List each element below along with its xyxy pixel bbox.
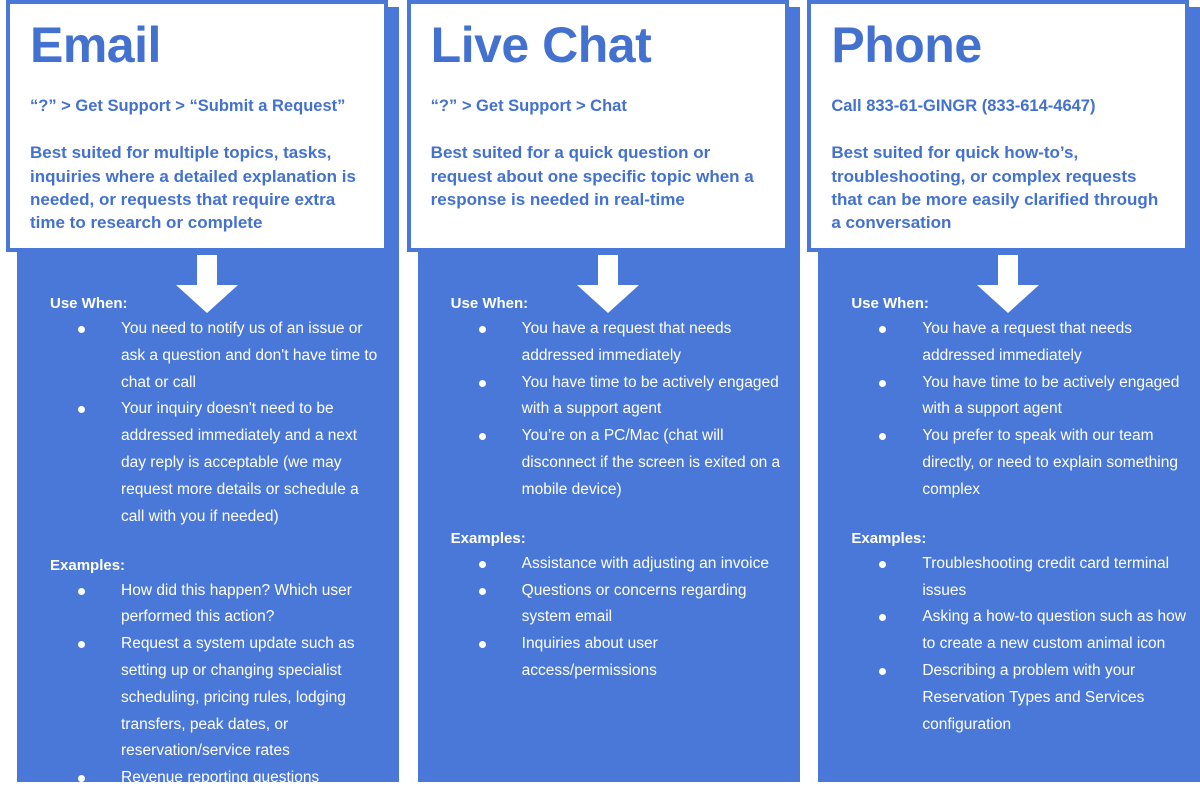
channel-email-title: Email bbox=[30, 20, 364, 70]
channel-live-chat-body: Use When: You have a request that needs … bbox=[418, 259, 800, 685]
arrow-down-icon bbox=[977, 255, 1039, 313]
list-item-text: Inquiries about user access/permissions bbox=[522, 635, 658, 679]
list-item: How did this happen? Which user performe… bbox=[31, 578, 385, 632]
arrow-down-icon bbox=[577, 255, 639, 313]
channel-email-path: “?” > Get Support > “Submit a Request” bbox=[30, 96, 364, 117]
list-item-text: You have a request that needs addressed … bbox=[522, 320, 732, 364]
channel-phone-use-when-list: You have a request that needs addressed … bbox=[832, 316, 1186, 504]
channel-phone-path: Call 833-61-GINGR (833-614-4647) bbox=[831, 96, 1165, 117]
bullet-dot-icon bbox=[879, 380, 886, 387]
list-item: You have time to be actively engaged wit… bbox=[432, 370, 786, 424]
channel-live-chat-description: Best suited for a quick question or requ… bbox=[431, 141, 765, 211]
channel-phone-examples-label: Examples: bbox=[851, 528, 1186, 549]
list-item: You have a request that needs addressed … bbox=[432, 316, 786, 370]
bullet-dot-icon bbox=[479, 326, 486, 333]
list-item: You’re on a PC/Mac (chat will disconnect… bbox=[432, 423, 786, 503]
list-item-text: Assistance with adjusting an invoice bbox=[522, 555, 769, 572]
bullet-dot-icon bbox=[879, 326, 886, 333]
list-item-text: Describing a problem with your Reservati… bbox=[922, 662, 1144, 733]
channel-email-body: Use When: You need to notify us of an is… bbox=[17, 259, 399, 792]
list-item: You have a request that needs addressed … bbox=[832, 316, 1186, 370]
arrow-down-icon bbox=[176, 255, 238, 313]
list-item-text: You’re on a PC/Mac (chat will disconnect… bbox=[522, 427, 780, 498]
list-item-text: How did this happen? Which user performe… bbox=[121, 582, 352, 626]
bullet-dot-icon bbox=[479, 380, 486, 387]
channel-email-card: Email “?” > Get Support > “Submit a Requ… bbox=[6, 0, 388, 252]
bullet-dot-icon bbox=[479, 588, 486, 595]
bullet-dot-icon bbox=[879, 433, 886, 440]
bullet-dot-icon bbox=[879, 668, 886, 675]
channel-live-chat-title: Live Chat bbox=[431, 20, 765, 70]
channel-phone-card: Phone Call 833-61-GINGR (833-614-4647) B… bbox=[807, 0, 1189, 252]
list-item-text: You have time to be actively engaged wit… bbox=[922, 374, 1179, 418]
channel-email-examples-list: How did this happen? Which user performe… bbox=[31, 578, 385, 792]
list-item-text: Asking a how-to question such as how to … bbox=[922, 608, 1186, 652]
channel-phone: Phone Call 833-61-GINGR (833-614-4647) B… bbox=[818, 7, 1200, 782]
list-item-text: You need to notify us of an issue or ask… bbox=[121, 320, 377, 391]
bullet-dot-icon bbox=[78, 326, 85, 333]
list-item-text: You have time to be actively engaged wit… bbox=[522, 374, 779, 418]
channel-live-chat-examples-label: Examples: bbox=[451, 528, 786, 549]
list-item-text: You have a request that needs addressed … bbox=[922, 320, 1132, 364]
list-item-text: Revenue reporting questions bbox=[121, 769, 319, 786]
channel-live-chat: Live Chat “?” > Get Support > Chat Best … bbox=[418, 7, 800, 782]
bullet-dot-icon bbox=[479, 561, 486, 568]
list-item: You need to notify us of an issue or ask… bbox=[31, 316, 385, 396]
list-item: Your inquiry doesn't need to be addresse… bbox=[31, 396, 385, 530]
bullet-dot-icon bbox=[78, 406, 85, 413]
support-channels-board: Email “?” > Get Support > “Submit a Requ… bbox=[0, 0, 1200, 791]
list-item-text: Request a system update such as setting … bbox=[121, 635, 355, 759]
channel-email-use-when-list: You need to notify us of an issue or ask… bbox=[31, 316, 385, 531]
list-item-text: Your inquiry doesn't need to be addresse… bbox=[121, 400, 359, 524]
bullet-dot-icon bbox=[479, 433, 486, 440]
list-item-text: Troubleshooting credit card terminal iss… bbox=[922, 555, 1169, 599]
channel-phone-examples-list: Troubleshooting credit card terminal iss… bbox=[832, 551, 1186, 739]
bullet-dot-icon bbox=[879, 561, 886, 568]
list-item-text: You prefer to speak with our team direct… bbox=[922, 427, 1178, 498]
bullet-dot-icon bbox=[879, 614, 886, 621]
list-item: Questions or concerns regarding system e… bbox=[432, 578, 786, 632]
bullet-dot-icon bbox=[78, 588, 85, 595]
list-item-text: Questions or concerns regarding system e… bbox=[522, 582, 747, 626]
bullet-dot-icon bbox=[479, 641, 486, 648]
channel-phone-description: Best suited for quick how-to’s, troubles… bbox=[831, 141, 1165, 234]
channel-email-examples-label: Examples: bbox=[50, 555, 385, 576]
list-item: Asking a how-to question such as how to … bbox=[832, 604, 1186, 658]
list-item: Inquiries about user access/permissions bbox=[432, 631, 786, 685]
list-item: Revenue reporting questions bbox=[31, 765, 385, 792]
channel-live-chat-examples-list: Assistance with adjusting an invoice Que… bbox=[432, 551, 786, 685]
channel-email: Email “?” > Get Support > “Submit a Requ… bbox=[17, 7, 399, 782]
list-item: Describing a problem with your Reservati… bbox=[832, 658, 1186, 738]
bullet-dot-icon bbox=[78, 641, 85, 648]
channel-phone-body: Use When: You have a request that needs … bbox=[818, 259, 1200, 738]
list-item: Troubleshooting credit card terminal iss… bbox=[832, 551, 1186, 605]
list-item: You prefer to speak with our team direct… bbox=[832, 423, 1186, 503]
channel-live-chat-path: “?” > Get Support > Chat bbox=[431, 96, 765, 117]
channel-email-description: Best suited for multiple topics, tasks, … bbox=[30, 141, 364, 234]
channel-live-chat-use-when-list: You have a request that needs addressed … bbox=[432, 316, 786, 504]
channel-phone-title: Phone bbox=[831, 20, 1165, 70]
channel-live-chat-card: Live Chat “?” > Get Support > Chat Best … bbox=[407, 0, 789, 252]
list-item: Request a system update such as setting … bbox=[31, 631, 385, 765]
bullet-dot-icon bbox=[78, 775, 85, 782]
list-item: You have time to be actively engaged wit… bbox=[832, 370, 1186, 424]
list-item: Assistance with adjusting an invoice bbox=[432, 551, 786, 578]
